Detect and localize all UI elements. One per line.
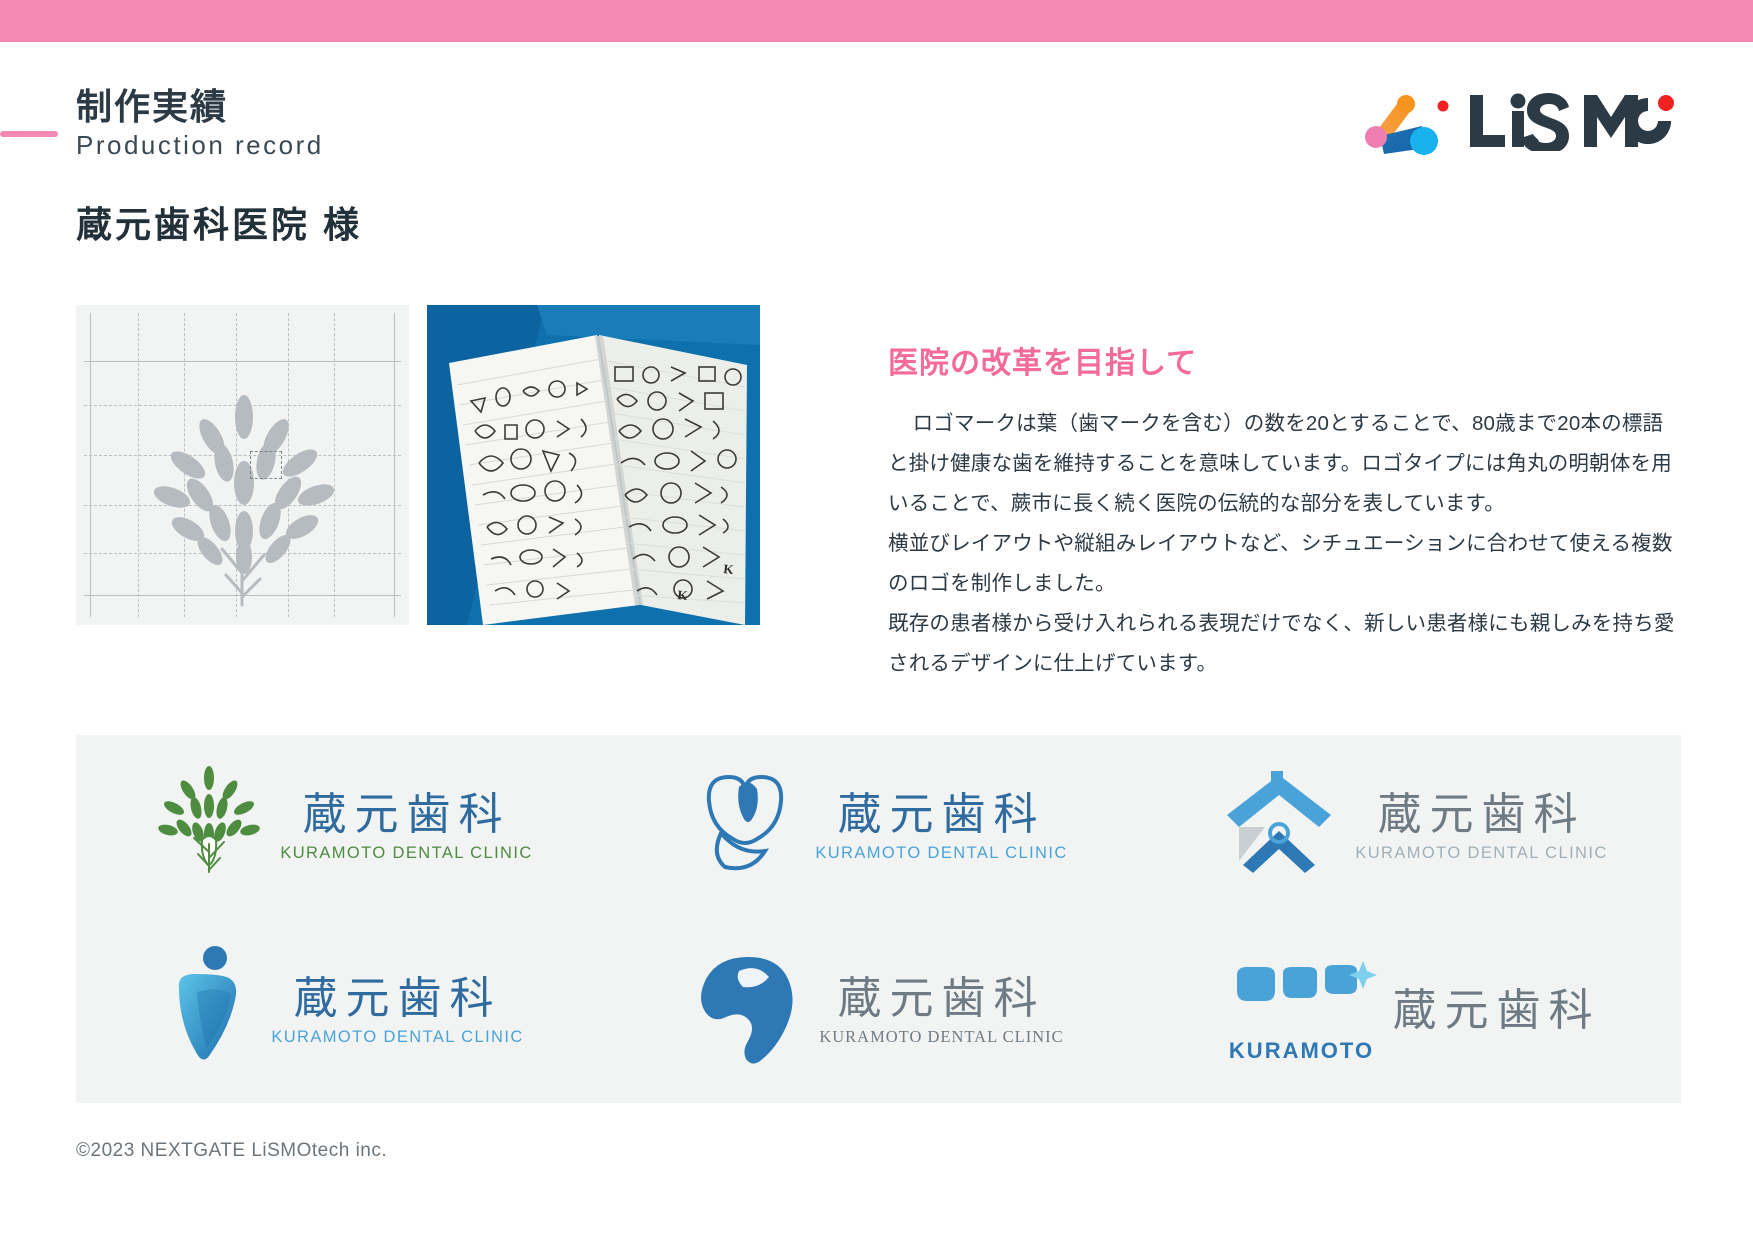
selection-box: [250, 451, 282, 479]
footer-copyright: ©2023 NEXTGATE LiSMOtech inc.: [76, 1140, 387, 1162]
logo-variant-5-name-ja: 蔵元歯科: [838, 975, 1046, 1023]
tree-leaves-icon: [154, 760, 264, 895]
logo-variant-1-name-en: KURAMOTO DENTAL CLINIC: [280, 844, 532, 863]
description-paragraph-2: 横並びレイアウトや縦組みレイアウトなど、シチュエーションに合わせて使える複数のロ…: [888, 524, 1678, 604]
logo-variant-6-mark-group: KURAMOTO: [1227, 959, 1377, 1064]
sketch-notebook-photo: K K: [427, 305, 760, 625]
logo-variant-1-name-ja: 蔵元歯科: [302, 791, 510, 839]
logo-variant-3-name-en: KURAMOTO DENTAL CLINIC: [1355, 844, 1607, 863]
tooth-solid-icon: [693, 949, 803, 1074]
logo-variant-5-name-en: KURAMOTO DENTAL CLINIC: [819, 1027, 1063, 1047]
tooth-person-icon: [163, 944, 255, 1079]
lismo-mark-icon: [1356, 84, 1452, 156]
header-titles: 制作実績 Production record: [76, 86, 324, 163]
logo-variant-3-name-ja: 蔵元歯科: [1377, 791, 1585, 839]
logo-variant-5: 蔵元歯科 KURAMOTO DENTAL CLINIC: [611, 919, 1146, 1103]
logo-variant-2-name-en: KURAMOTO DENTAL CLINIC: [815, 844, 1067, 863]
house-roof-tooth-icon: [1219, 765, 1339, 890]
teeth-row-sparkle-icon: [1227, 959, 1377, 1036]
description-paragraph-3: 既存の患者様から受け入れられる表現だけでなく、新しい患者様にも親しみを持ち愛され…: [888, 604, 1678, 684]
page-title-ja: 制作実績: [76, 86, 324, 127]
brand-logo: [1356, 84, 1681, 156]
reference-images: K K: [76, 305, 760, 625]
client-name: 蔵元歯科医院 様: [76, 196, 362, 248]
logo-variant-6-name-ja: 蔵元歯科: [1393, 987, 1601, 1035]
logo-variant-6: KURAMOTO 蔵元歯科: [1146, 919, 1681, 1103]
logo-variant-2-name-ja: 蔵元歯科: [837, 791, 1045, 839]
logo-variant-4-name-ja: 蔵元歯科: [293, 975, 501, 1023]
description-body: ロゴマークは葉（歯マークを含む）の数を20とすることで、80歳まで20本の標語と…: [888, 404, 1678, 684]
tooth-leaf-outline-icon: [689, 765, 799, 890]
description-title: 医院の改革を目指して: [888, 338, 1678, 382]
logo-variant-1-text: 蔵元歯科 KURAMOTO DENTAL CLINIC: [280, 791, 532, 862]
top-accent-bar: [0, 0, 1753, 42]
logo-showcase-panel: 蔵元歯科 KURAMOTO DENTAL CLINIC 蔵元歯科 KURAMOT…: [76, 735, 1681, 1103]
logo-variant-2-text: 蔵元歯科 KURAMOTO DENTAL CLINIC: [815, 791, 1067, 862]
header-accent-dash: [0, 131, 58, 137]
logo-variant-6-name-en: KURAMOTO: [1229, 1038, 1374, 1064]
logo-variant-4-name-en: KURAMOTO DENTAL CLINIC: [271, 1028, 523, 1047]
logo-variant-2: 蔵元歯科 KURAMOTO DENTAL CLINIC: [611, 735, 1146, 919]
description-paragraph-1: ロゴマークは葉（歯マークを含む）の数を20とすることで、80歳まで20本の標語と…: [888, 404, 1678, 524]
logo-variant-1: 蔵元歯科 KURAMOTO DENTAL CLINIC: [76, 735, 611, 919]
lismo-wordmark: [1466, 89, 1681, 151]
description-block: 医院の改革を目指して ロゴマークは葉（歯マークを含む）の数を20とすることで、8…: [888, 338, 1678, 684]
logo-variant-4: 蔵元歯科 KURAMOTO DENTAL CLINIC: [76, 919, 611, 1103]
logo-variant-5-text: 蔵元歯科 KURAMOTO DENTAL CLINIC: [819, 975, 1063, 1047]
logo-construction-grid: [76, 305, 409, 625]
logo-variant-3-text: 蔵元歯科 KURAMOTO DENTAL CLINIC: [1355, 791, 1607, 862]
logo-variant-3: 蔵元歯科 KURAMOTO DENTAL CLINIC: [1146, 735, 1681, 919]
page-title-en: Production record: [76, 129, 324, 163]
logo-variant-4-text: 蔵元歯科 KURAMOTO DENTAL CLINIC: [271, 975, 523, 1046]
